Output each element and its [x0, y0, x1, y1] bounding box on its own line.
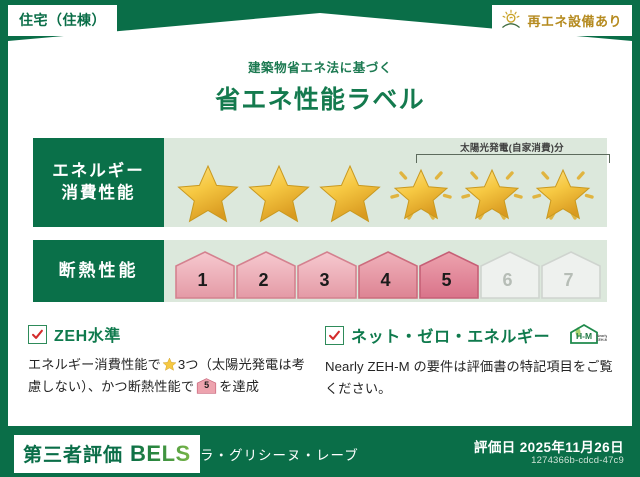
- energy-performance-label: エネルギー 消費性能: [33, 138, 164, 227]
- bels-certification-badge: 第三者評価 BELS: [14, 435, 200, 473]
- zeh-standard-description: エネルギー消費性能で3つ（太陽光発電は考慮しない）、かつ断熱性能で5を達成: [28, 354, 318, 398]
- insulation-badge: 3: [296, 250, 353, 300]
- insulation-badge: 2: [235, 250, 292, 300]
- inline-insulation-badge: 5: [196, 378, 217, 394]
- insulation-badge-number: 7: [563, 270, 573, 300]
- net-zero-energy-block: ネット・ゼロ・エネルギー H-M Nearly ZEH-M Nearly ZEH…: [325, 322, 625, 400]
- insulation-badge-number: 4: [380, 270, 390, 300]
- star-icon-solar: [529, 161, 597, 223]
- footer-bar: 第三者評価 BELS ラ・グリシーヌ・レーブ 評価日 2025年11月26日 1…: [0, 427, 640, 477]
- evaluation-id: 1274366b-cdcd-47c9: [531, 455, 624, 466]
- insulation-badge-inactive: 6: [479, 250, 536, 300]
- net-zero-energy-title: ネット・ゼロ・エネルギー: [351, 323, 550, 347]
- insulation-badge-number: 1: [197, 270, 207, 300]
- zeh-desc-part-c: を達成: [219, 379, 259, 394]
- zeh-standard-title: ZEH水準: [54, 322, 121, 346]
- energy-performance-row: エネルギー 消費性能 太陽光発電(自家消費)分: [33, 138, 607, 227]
- net-zero-energy-description: Nearly ZEH-M の要件は評価書の特記項目をご覧ください。: [325, 356, 625, 400]
- svg-text:H-M: H-M: [576, 331, 592, 341]
- energy-label-root: 住宅（住棟） 再エネ設備あり 建築物省エネ法に基づく 省エネ性能ラベル: [0, 0, 640, 477]
- evaluation-date: 評価日 2025年11月26日: [474, 436, 624, 456]
- insulation-rating-panel: 1 2 3 4: [164, 240, 607, 302]
- insulation-badge-inactive: 7: [540, 250, 597, 300]
- insulation-badge-group: 1 2 3 4: [164, 240, 607, 302]
- star-rating-group: [164, 161, 607, 223]
- sun-solar-icon: [500, 9, 522, 31]
- star-icon-solar: [387, 161, 455, 223]
- star-icon-solar: [458, 161, 526, 223]
- insulation-badge-number: 2: [258, 270, 268, 300]
- insulation-performance-label: 断熱性能: [33, 240, 164, 302]
- insulation-badge-number: 6: [502, 270, 512, 300]
- zeh-m-logo-icon: H-M Nearly ZEH-M: [561, 322, 607, 348]
- renewable-equipment-badge: 再エネ設備あり: [492, 5, 632, 36]
- inline-badge-number: 5: [196, 378, 217, 394]
- insulation-badge: 4: [357, 250, 414, 300]
- property-name: ラ・グリシーヌ・レーブ: [200, 444, 359, 464]
- label-title-block: 建築物省エネ法に基づく 省エネ性能ラベル: [0, 57, 640, 116]
- net-zero-energy-header: ネット・ゼロ・エネルギー H-M Nearly ZEH-M: [325, 322, 625, 348]
- insulation-badge-number: 5: [441, 270, 451, 300]
- title-subtitle: 建築物省エネ法に基づく: [0, 57, 640, 76]
- energy-label-line1: エネルギー: [52, 161, 145, 183]
- star-icon: [316, 161, 384, 223]
- solar-annotation-text: 太陽光発電(自家消費)分: [412, 140, 612, 154]
- star-icon: [174, 161, 242, 223]
- svg-text:ZEH-M: ZEH-M: [597, 338, 608, 342]
- zeh-standard-header: ZEH水準: [28, 322, 318, 346]
- housing-type-tag: 住宅（住棟）: [8, 5, 117, 36]
- energy-label-line2: 消費性能: [62, 183, 136, 205]
- energy-rating-panel: 太陽光発電(自家消費)分: [164, 138, 607, 227]
- star-icon: [245, 161, 313, 223]
- insulation-badge-number: 3: [319, 270, 329, 300]
- renewable-tag-label: 再エネ設備あり: [527, 11, 622, 30]
- check-icon: [28, 325, 47, 344]
- bels-japanese-label: 第三者評価: [23, 440, 123, 467]
- zeh-desc-part-a: エネルギー消費性能で: [28, 357, 161, 372]
- bels-logo-text: BELS: [130, 441, 191, 467]
- title-main: 省エネ性能ラベル: [0, 80, 640, 116]
- inline-star-icon: [162, 356, 177, 370]
- zeh-standard-block: ZEH水準 エネルギー消費性能で3つ（太陽光発電は考慮しない）、かつ断熱性能で5…: [28, 322, 318, 398]
- insulation-badge-current: 5: [418, 250, 475, 300]
- insulation-performance-row: 断熱性能 1 2 3: [33, 240, 607, 302]
- check-icon: [325, 326, 344, 345]
- insulation-badge: 1: [174, 250, 231, 300]
